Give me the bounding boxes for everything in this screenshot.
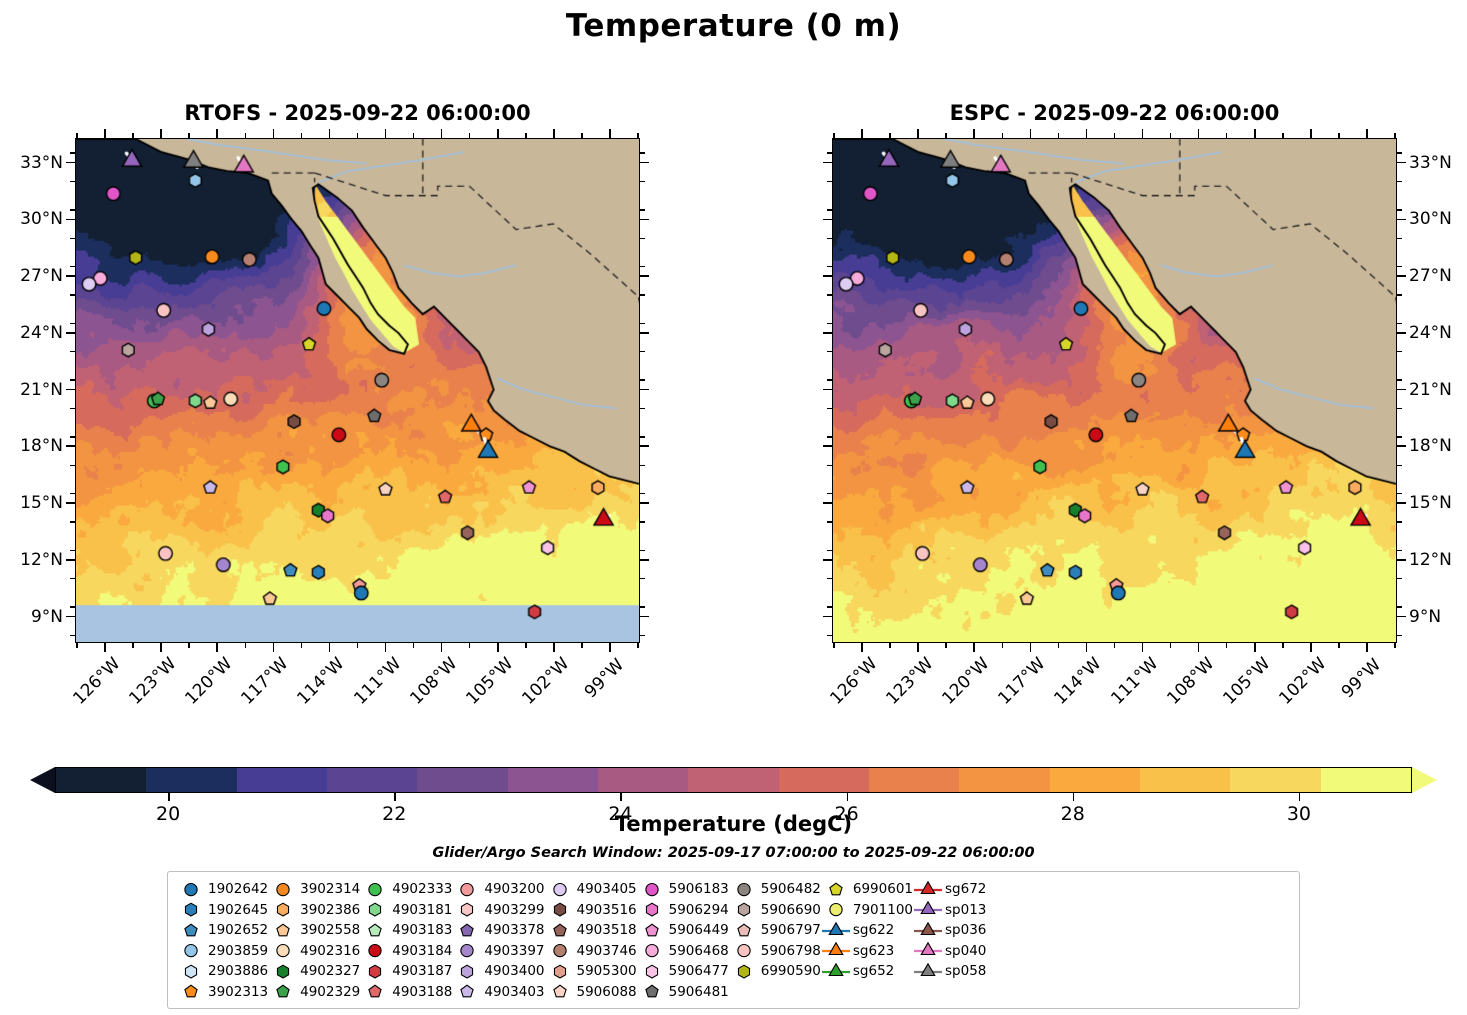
legend-symbol [637,963,667,980]
lat-minor-tick [70,323,75,324]
lon-minor-tick [1338,133,1339,138]
legend-entry[interactable]: 2903859 [176,941,268,962]
lat-tick [1397,616,1406,618]
legend-entry[interactable]: 4903516 [545,900,637,921]
legend-entry[interactable]: 4903405 [545,879,637,900]
legend-symbol [913,881,943,898]
legend-symbol [268,983,298,1000]
legend-label: 4902333 [390,881,452,897]
legend-entry[interactable]: 3902386 [268,900,360,921]
colorbar-segments [55,767,1412,793]
lon-tick [1198,129,1200,138]
lat-minor-tick [640,408,645,409]
lat-minor-tick [827,379,832,380]
lat-tick-label: 30°N [0,209,63,229]
pentagon-marker-icon [268,983,298,1000]
lon-tick [917,129,919,138]
legend-entry[interactable]: sp058 [913,961,986,982]
legend-entry[interactable]: 2903886 [176,961,268,982]
legend-column-4: 4903405490351649035184903746590530059060… [545,879,637,1002]
legend-entry[interactable]: 5906482 [729,879,821,900]
legend-label: 1902652 [206,922,268,938]
lat-tick [1397,275,1406,277]
circle-marker-icon [821,901,851,918]
colorbar-band-0 [56,768,146,792]
lat-minor-tick [70,436,75,437]
triangle-marker-icon [913,963,943,980]
hexagon-marker-icon [452,901,482,918]
pentagon-marker-icon [176,922,206,939]
lat-minor-tick [827,323,832,324]
legend-label: 5906468 [667,943,729,959]
legend-entry[interactable]: 5906690 [729,900,821,921]
lat-minor-tick [1397,578,1402,579]
lon-tick [104,129,106,138]
lon-tick [1254,129,1256,138]
lat-minor-tick [827,408,832,409]
legend-entry[interactable]: 7901100 [821,900,913,921]
colorbar-tick [847,793,849,801]
lon-tick [553,643,555,652]
colorbar-band-10 [959,768,1049,792]
lat-tick [823,502,832,504]
lat-tick [640,332,649,334]
legend-label: 7901100 [851,902,913,918]
lon-tick-label: 111°W [350,655,404,709]
legend-entry[interactable]: sp040 [913,941,986,962]
legend-entry[interactable]: sp013 [913,900,986,921]
lon-minor-tick [1058,133,1059,138]
pentagon-marker-icon [821,881,851,898]
lon-tick-label: 126°W [69,655,123,709]
lon-tick [104,643,106,652]
legend-entry[interactable]: 5906294 [637,900,729,921]
legend-entry[interactable]: 5906449 [637,920,729,941]
search-window-label: Glider/Argo Search Window: 2025-09-17 07… [0,845,1467,861]
legend-entry[interactable]: 3902313 [176,982,268,1003]
lon-minor-tick [1114,643,1115,648]
lon-tick [441,643,443,652]
lon-minor-tick [301,133,302,138]
legend-entry[interactable]: 4903518 [545,920,637,941]
legend-entry[interactable]: sg623 [821,941,913,962]
lat-tick-label: 9°N [1409,607,1441,627]
legend-label: 5906482 [759,881,821,897]
legend-label: 4903405 [575,881,637,897]
colorbar-extend-max [1412,767,1437,793]
legend-symbol [452,881,482,898]
circle-marker-icon [637,942,667,959]
lat-tick [823,219,832,221]
triangle-marker-icon [821,942,851,959]
lon-tick [273,643,275,652]
lat-minor-tick [1397,493,1402,494]
lat-minor-tick [827,152,832,153]
legend-entry[interactable]: 5906183 [637,879,729,900]
lat-tick-label: 18°N [1409,436,1452,456]
colorbar-tick [168,793,170,801]
lat-minor-tick [640,493,645,494]
legend-entry[interactable]: 5906477 [637,961,729,982]
lat-tick-label: 24°N [1409,323,1452,343]
legend-label: 4903187 [390,963,452,979]
pentagon-marker-icon [360,922,390,939]
legend-symbol [545,963,575,980]
legend-symbol [821,942,851,959]
colorbar-tick [1299,793,1301,801]
legend-symbol [821,963,851,980]
legend-label: sg652 [851,963,894,979]
legend-entry[interactable]: 5905300 [545,961,637,982]
panel-espc: ESPC - 2025-09-22 06:00:00 33°N30°N27°N2… [832,138,1397,643]
colorbar-band-8 [779,768,869,792]
lon-minor-tick [525,133,526,138]
legend-entry[interactable]: 6990601 [821,879,913,900]
lat-minor-tick [70,181,75,182]
legend-label: 4903181 [390,902,452,918]
legend-symbol [268,881,298,898]
lon-minor-tick [188,133,189,138]
legend-entry[interactable]: 4903397 [452,941,544,962]
lon-tick [861,643,863,652]
lat-minor-tick [70,379,75,380]
lon-minor-tick [1226,643,1227,648]
lat-tick-label: 12°N [1409,550,1452,570]
legend-entry[interactable]: 5906088 [545,982,637,1003]
lat-minor-tick [827,606,832,607]
lat-minor-tick [70,152,75,153]
lat-minor-tick [640,238,645,239]
legend-label: sg672 [943,881,986,897]
lat-minor-tick [640,578,645,579]
legend-entry[interactable]: 6990590 [729,961,821,982]
legend-symbol [268,901,298,918]
legend-symbol [913,942,943,959]
legend-entry[interactable]: sp036 [913,920,986,941]
lat-tick [640,445,649,447]
pentagon-marker-icon [729,922,759,939]
legend-label: sp036 [943,922,986,938]
circle-marker-icon [360,881,390,898]
lon-minor-tick [1170,643,1171,648]
legend-entry[interactable]: 4903403 [452,982,544,1003]
legend-entry[interactable]: sg622 [821,920,913,941]
lon-minor-tick [132,643,133,648]
lat-tick-label: 27°N [1409,266,1452,286]
lon-tick-label: 111°W [1107,655,1161,709]
legend-entry[interactable]: 4902327 [268,961,360,982]
lat-minor-tick [70,408,75,409]
circle-marker-icon [268,942,298,959]
lon-minor-tick [76,133,77,138]
legend-label: 4903746 [575,943,637,959]
lat-tick-label: 21°N [1409,380,1452,400]
lat-minor-tick [640,465,645,466]
lat-minor-tick [1397,606,1402,607]
legend-entry[interactable]: 1902645 [176,900,268,921]
legend-label: 3902386 [298,902,360,918]
legend-symbol [545,922,575,939]
lon-tick [497,129,499,138]
circle-marker-icon [452,881,482,898]
hexagon-marker-icon [360,963,390,980]
legend-entry[interactable]: 4902333 [360,879,452,900]
legend-symbol [913,901,943,918]
lon-tick [385,643,387,652]
legend-entry[interactable]: 4902329 [268,982,360,1003]
lat-tick [1397,389,1406,391]
legend-entry[interactable]: 3902558 [268,920,360,941]
lat-minor-tick [827,436,832,437]
lon-minor-tick [637,643,638,648]
legend-entry[interactable]: 5906481 [637,982,729,1003]
lat-minor-tick [1397,266,1402,267]
lat-minor-tick [640,550,645,551]
legend-label: 6990601 [851,881,913,897]
legend-label: 4903188 [390,984,452,1000]
circle-marker-icon [729,942,759,959]
lon-minor-tick [1002,133,1003,138]
lat-minor-tick [827,493,832,494]
legend-label: 2903859 [206,943,268,959]
lat-tick [66,219,75,221]
lon-minor-tick [245,133,246,138]
legend-label: 5906449 [667,922,729,938]
lat-tick [823,162,832,164]
lat-minor-tick [640,635,645,636]
lat-minor-tick [1397,209,1402,210]
lat-tick-label: 18°N [0,436,63,456]
lon-minor-tick [1002,643,1003,648]
legend-entry[interactable]: 4903299 [452,900,544,921]
lat-tick [66,559,75,561]
colorbar: 202224262830 [30,767,1437,793]
lon-minor-tick [581,643,582,648]
hexagon-marker-icon [176,901,206,918]
lon-tick-label: 117°W [995,655,1049,709]
lat-tick [1397,162,1406,164]
lat-minor-tick [640,294,645,295]
hexagon-marker-icon [176,963,206,980]
colorbar-tick [620,793,622,801]
colorbar-band-14 [1321,768,1411,792]
panel-title-espc: ESPC - 2025-09-22 06:00:00 [832,101,1397,125]
lat-minor-tick [827,550,832,551]
lon-tick-label: 120°W [182,655,236,709]
legend-entry[interactable]: 4903378 [452,920,544,941]
legend-label: 4903518 [575,922,637,938]
lon-minor-tick [413,643,414,648]
triangle-marker-icon [913,942,943,959]
legend-label: 4902327 [298,963,360,979]
legend-symbol [360,963,390,980]
lon-tick-label: 120°W [939,655,993,709]
lat-tick [640,559,649,561]
legend-entry[interactable]: 4903188 [360,982,452,1003]
legend-symbol [637,881,667,898]
lon-minor-tick [1170,133,1171,138]
colorbar-band-7 [688,768,778,792]
legend-entry[interactable]: 4903183 [360,920,452,941]
lat-tick [66,275,75,277]
lon-minor-tick [132,133,133,138]
legend-entry[interactable]: 5906468 [637,941,729,962]
lat-minor-tick [827,294,832,295]
legend-column-0: 1902642190264519026522903859290388639023… [176,879,268,1002]
legend-label: 3902558 [298,922,360,938]
legend-label: 4903184 [390,943,452,959]
legend-column-6: 59064825906690590679759067986990590 [729,879,821,1002]
lon-tick-label: 114°W [1051,655,1105,709]
legend-symbol [545,983,575,1000]
legend-label: 4903397 [482,943,544,959]
colorbar-band-6 [598,768,688,792]
map-espc[interactable] [832,138,1397,643]
lat-minor-tick [70,351,75,352]
colorbar-band-13 [1230,768,1320,792]
hexagon-marker-icon [729,901,759,918]
triangle-marker-icon [913,881,943,898]
colorbar-band-4 [417,768,507,792]
lat-minor-tick [640,351,645,352]
lat-tick [823,389,832,391]
legend-entry[interactable]: 4903746 [545,941,637,962]
lon-minor-tick [525,643,526,648]
legend-symbol [360,901,390,918]
marker-legend: 1902642190264519026522903859290388639023… [167,871,1300,1009]
legend-symbol [913,922,943,939]
lon-tick [1142,129,1144,138]
legend-entry[interactable]: 4903200 [452,879,544,900]
pentagon-marker-icon [452,983,482,1000]
legend-column-8: sg672sp013sp036sp040sp058 [913,879,986,1002]
lat-tick [1397,502,1406,504]
lon-tick [1254,643,1256,652]
legend-label: sg623 [851,943,894,959]
lat-minor-tick [70,550,75,551]
hexagon-marker-icon [545,963,575,980]
lon-minor-tick [76,643,77,648]
lat-minor-tick [1397,465,1402,466]
map-rtofs[interactable] [75,138,640,643]
legend-column-1: 3902314390238639025584902316490232749023… [268,879,360,1002]
lat-minor-tick [70,294,75,295]
lat-minor-tick [640,436,645,437]
lon-tick [917,643,919,652]
lon-tick [1198,643,1200,652]
legend-symbol [360,983,390,1000]
lat-minor-tick [640,323,645,324]
lat-minor-tick [1397,379,1402,380]
lat-tick-label: 12°N [0,550,63,570]
legend-symbol [360,922,390,939]
lon-minor-tick [357,133,358,138]
lon-minor-tick [945,133,946,138]
legend-label: 5906088 [575,984,637,1000]
lat-minor-tick [1397,351,1402,352]
lon-minor-tick [889,133,890,138]
legend-entry[interactable]: 5906798 [729,941,821,962]
lon-minor-tick [1394,643,1395,648]
legend-entry[interactable]: sg672 [913,879,986,900]
hexagon-marker-icon [452,963,482,980]
lat-tick [1397,332,1406,334]
legend-symbol [268,942,298,959]
lat-minor-tick [1397,294,1402,295]
lon-tick [1086,129,1088,138]
legend-entry[interactable]: sg652 [821,961,913,982]
lat-minor-tick [1397,323,1402,324]
hexagon-marker-icon [637,901,667,918]
lon-tick [973,643,975,652]
lon-minor-tick [945,643,946,648]
lat-tick [1397,219,1406,221]
lon-tick [1366,643,1368,652]
hexagon-marker-icon [637,963,667,980]
legend-entry[interactable]: 4903187 [360,961,452,982]
legend-entry[interactable]: 4903181 [360,900,452,921]
legend-label: 4903378 [482,922,544,938]
lon-minor-tick [357,643,358,648]
circle-marker-icon [176,881,206,898]
legend-symbol [637,901,667,918]
lat-minor-tick [70,266,75,267]
legend-entry[interactable]: 1902652 [176,920,268,941]
lat-tick-label: 15°N [1409,493,1452,513]
legend-label: 5906798 [759,943,821,959]
colorbar-extend-min [30,767,55,793]
lat-minor-tick [640,209,645,210]
lat-minor-tick [1397,238,1402,239]
legend-entry[interactable]: 1902642 [176,879,268,900]
lon-tick [1142,643,1144,652]
lat-minor-tick [827,635,832,636]
lon-tick-label: 105°W [1219,655,1273,709]
pentagon-marker-icon [360,983,390,1000]
panel-title-rtofs: RTOFS - 2025-09-22 06:00:00 [75,101,640,125]
map-canvas-espc [833,139,1396,642]
lat-tick-label: 9°N [0,607,63,627]
legend-symbol [913,963,943,980]
lat-minor-tick [1397,436,1402,437]
lon-tick [553,129,555,138]
lat-minor-tick [827,238,832,239]
lon-minor-tick [1058,643,1059,648]
legend-entry[interactable]: 5906797 [729,920,821,941]
legend-entry[interactable]: 3902314 [268,879,360,900]
legend-symbol [545,942,575,959]
circle-marker-icon [545,942,575,959]
legend-label: 5906481 [667,984,729,1000]
legend-label: 5906477 [667,963,729,979]
lon-minor-tick [581,133,582,138]
lon-tick-label: 105°W [462,655,516,709]
legend-entry[interactable]: 4902316 [268,941,360,962]
pentagon-marker-icon [545,922,575,939]
lat-minor-tick [640,152,645,153]
lon-minor-tick [889,643,890,648]
colorbar-band-1 [146,768,236,792]
lon-tick [1310,129,1312,138]
lat-minor-tick [70,521,75,522]
lat-minor-tick [827,209,832,210]
lat-tick [823,445,832,447]
lon-minor-tick [1282,643,1283,648]
hexagon-marker-icon [268,901,298,918]
legend-entry[interactable]: 4903184 [360,941,452,962]
legend-entry[interactable]: 4903400 [452,961,544,982]
legend-symbol [637,942,667,959]
